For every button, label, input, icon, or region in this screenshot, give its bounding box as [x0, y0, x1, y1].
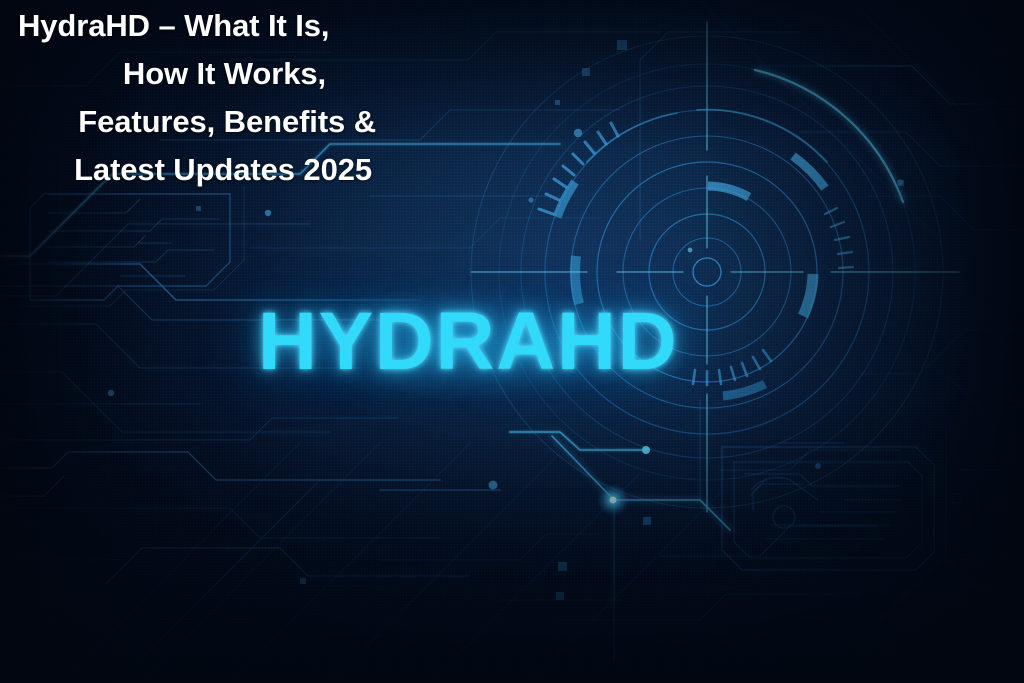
brand-wordmark: HYDRAHD — [238, 296, 698, 396]
banner-canvas: HydraHD – What It Is, How It Works, Feat… — [0, 0, 1024, 683]
wordmark-text: HYDRAHD — [238, 296, 698, 388]
title-line-1: HydraHD – What It Is, — [0, 2, 388, 50]
title-line-2: How It Works, — [0, 50, 388, 98]
page-title: HydraHD – What It Is, How It Works, Feat… — [0, 2, 400, 194]
title-line-3: Features, Benefits & — [0, 98, 388, 146]
title-line-4: Latest Updates 2025 — [0, 146, 388, 194]
